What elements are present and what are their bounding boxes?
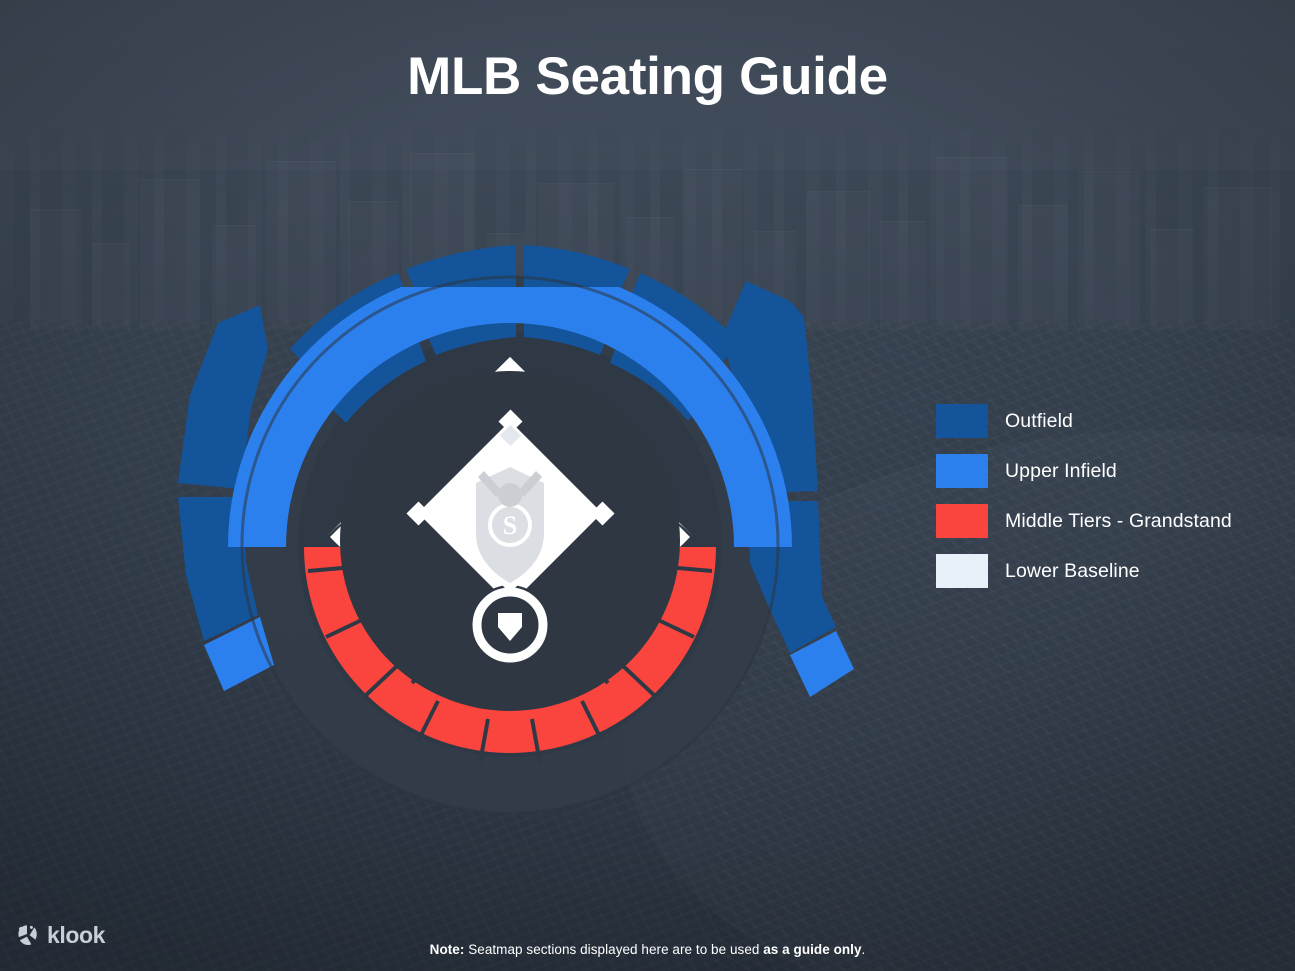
legend-label-upper-infield: Upper Infield — [1005, 460, 1117, 483]
stadium-seatmap: S — [150, 245, 890, 845]
legend-item-upper-infield: Upper Infield — [936, 446, 1266, 496]
footer-note-text: Seatmap sections displayed here are to b… — [464, 942, 763, 957]
footer-note-label: Note: — [430, 942, 465, 957]
legend-label-lower-baseline: Lower Baseline — [1005, 560, 1140, 583]
legend-swatch-lower-baseline — [936, 554, 988, 588]
legend-label-outfield: Outfield — [1005, 410, 1073, 433]
legend-label-middle-tiers-grandstand: Middle Tiers - Grandstand — [1005, 510, 1232, 533]
svg-text:S: S — [503, 511, 517, 540]
klook-brand: klook — [14, 922, 105, 949]
footer-note: Note: Seatmap sections displayed here ar… — [0, 942, 1295, 957]
legend-swatch-upper-infield — [936, 454, 988, 488]
legend-item-lower-baseline: Lower Baseline — [936, 546, 1266, 596]
legend-swatch-middle-tiers-grandstand — [936, 504, 988, 538]
footer-note-end: . — [862, 942, 866, 957]
legend-item-middle-tiers-grandstand: Middle Tiers - Grandstand — [936, 496, 1266, 546]
klook-pinwheel-icon — [14, 923, 40, 949]
legend-swatch-outfield — [936, 404, 988, 438]
legend: Outfield Upper Infield Middle Tiers - Gr… — [936, 396, 1266, 596]
legend-item-outfield: Outfield — [936, 396, 1266, 446]
footer-note-emphasis: as a guide only — [763, 942, 861, 957]
klook-wordmark: klook — [47, 922, 105, 949]
mlb-seating-guide-page: MLB Seating Guide — [0, 0, 1295, 971]
page-title: MLB Seating Guide — [0, 48, 1295, 106]
